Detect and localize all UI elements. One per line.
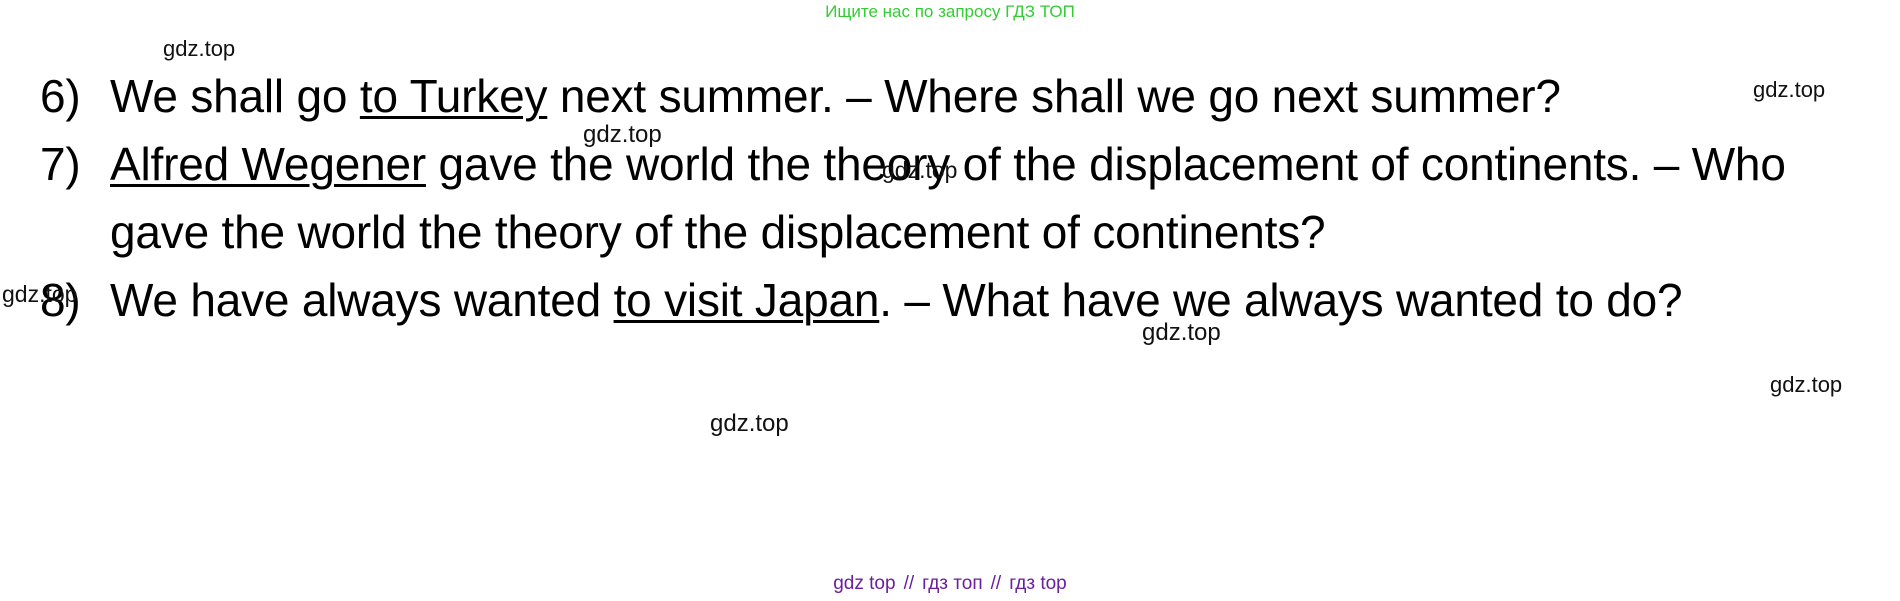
exercise-text-8: We have always wanted to visit Japan. – … (110, 266, 1810, 334)
watermark-gdz-top: gdz.top (1770, 372, 1842, 398)
promo-banner-top: Ищите нас по запросу ГДЗ ТОП (0, 0, 1900, 24)
promo-strip-bottom: gdz top//гдз топ//гдз top (0, 572, 1900, 596)
exercise-number-6: 6) (40, 62, 110, 130)
watermark-gdz-top: gdz.top (710, 410, 789, 438)
exercise-number-7: 7) (40, 130, 110, 198)
exercise-6-prefix: We shall go (110, 70, 360, 122)
promo-strip-part-2: гдз топ (922, 573, 983, 594)
exercise-6-answer: to Turkey (360, 70, 547, 122)
exercise-text-7: Alfred Wegener gave the world the theory… (110, 130, 1855, 266)
promo-strip-part-3: гдз top (1009, 573, 1067, 594)
exercise-item-6: 6) We shall go to Turkey next summer. – … (40, 62, 1860, 130)
exercise-8-answer: to visit Japan (614, 274, 880, 326)
exercise-item-7: 7) Alfred Wegener gave the world the the… (40, 130, 1860, 266)
watermark-gdz-top: gdz.top (163, 36, 235, 62)
exercise-item-8: 8) We have always wanted to visit Japan.… (40, 266, 1860, 334)
exercise-8-prefix: We have always wanted (110, 274, 614, 326)
exercise-list: 6) We shall go to Turkey next summer. – … (40, 62, 1860, 334)
promo-strip-separator-2: // (983, 573, 1010, 594)
promo-strip-separator-1: // (896, 573, 923, 594)
exercise-number-8: 8) (40, 266, 110, 334)
exercise-6-suffix: next summer. – Where shall we go next su… (547, 70, 1560, 122)
exercise-text-6: We shall go to Turkey next summer. – Whe… (110, 62, 1855, 130)
promo-strip-part-1: gdz top (833, 573, 895, 594)
exercise-7-answer: Alfred Wegener (110, 138, 426, 190)
exercise-8-suffix: . – What have we always wanted to do? (879, 274, 1682, 326)
